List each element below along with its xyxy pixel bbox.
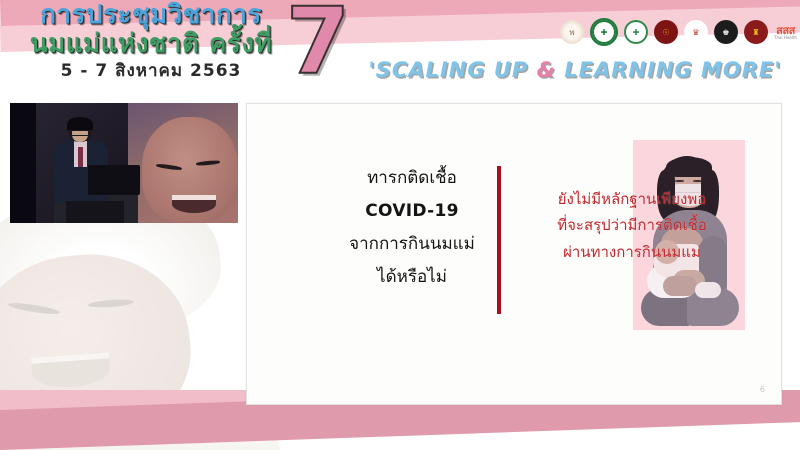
medical-association-logo: ✚ bbox=[624, 20, 648, 44]
presentation-screen: การประชุมวิชาการ นมแม่แห่งชาติ ครั้งที่ … bbox=[0, 0, 800, 450]
breastfeeding-foundation-logo: ♜ bbox=[744, 20, 768, 44]
speaker-glasses bbox=[71, 130, 89, 136]
question-line-4: ได้หรือไม่ bbox=[317, 261, 507, 294]
organizer-logo-strip: พ ✚ ✚ ☉ ♛ ♚ ♜ สสส Thai Health bbox=[560, 18, 797, 46]
answer-line-3: ผ่านทางการกินนมแม่ bbox=[509, 239, 755, 265]
projected-baby-mouth bbox=[172, 195, 216, 213]
slide-panel: ทารกติดเชื้อ COVID-19 จากการกินนมแม่ ได้… bbox=[246, 103, 782, 405]
answer-line-1: ยังไม่มีหลักฐานเพียงพอ bbox=[509, 186, 755, 212]
conference-title-line2: นมแม่แห่งชาติ ครั้งที่ bbox=[16, 31, 286, 57]
question-line-3: จากการกินนมแม่ bbox=[317, 228, 507, 261]
conference-header-banner: การประชุมวิชาการ นมแม่แห่งชาติ ครั้งที่ … bbox=[0, 0, 800, 98]
conference-title-line1: การประชุมวิชาการ bbox=[16, 2, 286, 28]
vertical-divider bbox=[497, 166, 501, 314]
answer-line-2: ที่จะสรุปว่ามีการติดเชื้อ bbox=[509, 212, 755, 238]
conference-title-block: การประชุมวิชาการ นมแม่แห่งชาติ ครั้งที่ … bbox=[16, 2, 286, 80]
thai-pediatric-society-logo: ☉ bbox=[654, 20, 678, 44]
question-block: ทารกติดเชื้อ COVID-19 จากการกินนมแม่ ได้… bbox=[317, 162, 507, 295]
question-line-1: ทารกติดเชื้อ bbox=[317, 162, 507, 195]
thaihealth-sso-sublabel: Thai Health bbox=[774, 36, 797, 40]
speaker-video-feed[interactable] bbox=[10, 103, 238, 223]
question-line-2: COVID-19 bbox=[317, 195, 507, 228]
tagline-ampersand: & bbox=[537, 58, 556, 82]
podium-laptop bbox=[88, 165, 140, 195]
speaker-tie bbox=[78, 147, 83, 167]
slide-number: 6 bbox=[760, 385, 765, 394]
speaker-hair bbox=[67, 117, 93, 130]
podium-front-panel bbox=[66, 201, 124, 223]
thaihealth-sso-logo: สสส Thai Health bbox=[774, 25, 797, 40]
royal-college-logo: ♛ bbox=[684, 20, 708, 44]
edition-number: 7 bbox=[286, 0, 350, 88]
tagline-part2: LEARNING MORE' bbox=[556, 58, 782, 82]
mother-foot bbox=[695, 282, 721, 298]
nursing-council-logo: ♚ bbox=[714, 20, 738, 44]
conference-date: 5 - 7 สิงหาคม 2563 bbox=[16, 63, 286, 80]
stage-dark-column bbox=[10, 103, 36, 223]
royal-emblem-logo: พ bbox=[560, 20, 584, 44]
ministry-public-health-logo: ✚ bbox=[590, 18, 618, 46]
mother-hand-lower bbox=[663, 276, 697, 296]
mother-eye-left bbox=[675, 180, 684, 182]
answer-block: ยังไม่มีหลักฐานเพียงพอ ที่จะสรุปว่ามีการ… bbox=[509, 186, 755, 265]
tagline-part1: 'SCALING UP bbox=[368, 58, 536, 82]
conference-tagline: 'SCALING UP & LEARNING MORE' bbox=[360, 58, 790, 82]
